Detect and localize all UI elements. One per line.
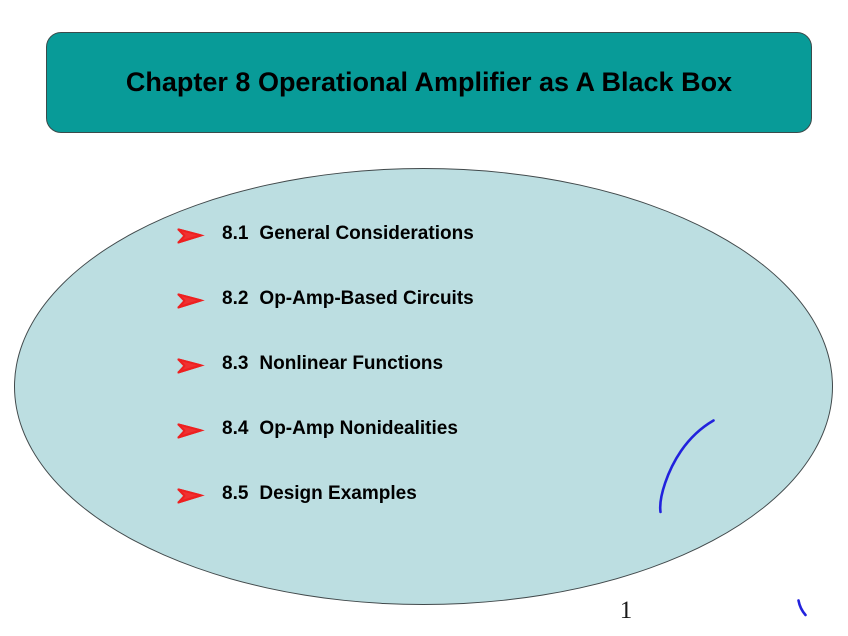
list-item[interactable]: 8.4 Op-Amp Nonidealities (175, 417, 695, 482)
list-item-number: 8.4 (222, 417, 248, 441)
agenda-list: 8.1 General Considerations 8.2 Op-Amp-Ba… (175, 222, 695, 547)
list-item-number: 8.1 (222, 222, 248, 246)
list-item[interactable]: 8.3 Nonlinear Functions (175, 352, 695, 417)
arrowhead-bullet-icon (175, 483, 205, 509)
arrowhead-bullet-icon (175, 418, 205, 444)
list-item-number: 8.5 (222, 482, 248, 506)
list-item-label: Op-Amp Nonidealities (259, 417, 457, 441)
arrowhead-bullet-icon (175, 223, 205, 249)
arrowhead-bullet-icon (175, 288, 205, 314)
list-item[interactable]: 8.2 Op-Amp-Based Circuits (175, 287, 695, 352)
list-item-label: Op-Amp-Based Circuits (259, 287, 473, 311)
slide-canvas: Chapter 8 Operational Amplifier as A Bla… (0, 0, 848, 636)
list-item-label: General Considerations (259, 222, 473, 246)
list-item-label: Design Examples (259, 482, 416, 506)
list-item[interactable]: 8.5 Design Examples (175, 482, 695, 547)
ink-stroke-tick (799, 601, 806, 616)
title-banner: Chapter 8 Operational Amplifier as A Bla… (46, 32, 812, 133)
page-title: Chapter 8 Operational Amplifier as A Bla… (79, 66, 779, 99)
list-item-number: 8.3 (222, 352, 248, 376)
arrowhead-bullet-icon (175, 353, 205, 379)
list-item[interactable]: 8.1 General Considerations (175, 222, 695, 287)
list-item-label: Nonlinear Functions (259, 352, 443, 376)
list-item-number: 8.2 (222, 287, 248, 311)
page-number: 1 (614, 597, 638, 625)
